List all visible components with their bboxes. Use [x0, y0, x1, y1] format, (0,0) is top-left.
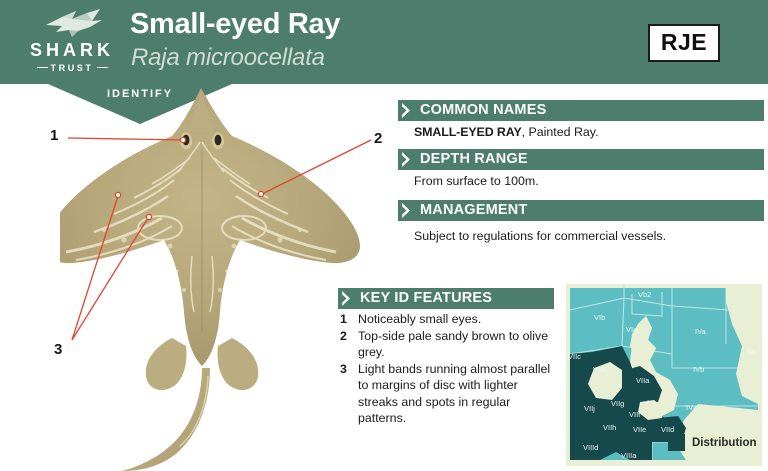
map-legend-swatch	[668, 434, 685, 451]
callout-number-1: 1	[50, 127, 58, 144]
key-id-item-number: 1	[340, 311, 347, 328]
scientific-name: Raja microocellata	[131, 44, 325, 72]
section-body-management: Subject to regulations for commercial ve…	[414, 228, 764, 244]
svg-text:VIIf: VIIf	[629, 410, 641, 419]
section-body-common-names: SMALL-EYED RAY, Painted Ray.	[414, 124, 764, 140]
ray-eye-left	[180, 133, 192, 150]
svg-text:VIb: VIb	[594, 313, 605, 322]
logo-wordmark: SHARK	[24, 40, 120, 61]
svg-text:VIa: VIa	[626, 325, 638, 334]
section-heading-depth-range: DEPTH RANGE	[398, 149, 764, 170]
ray-drawing	[60, 80, 380, 471]
common-name-primary: SMALL-EYED RAY	[414, 125, 522, 139]
logo-subwordmark: TRUST	[24, 63, 120, 73]
key-id-item-number: 2	[340, 328, 347, 345]
key-id-item-text: Light bands running almost parallel to m…	[358, 362, 550, 426]
ray-pelvic-right	[218, 338, 259, 390]
key-id-item-number: 3	[340, 361, 347, 378]
key-id-features-list: 1 Noticeably small eyes. 2 Top-side pale…	[338, 311, 556, 427]
shark-trust-logo: SHARK TRUST	[24, 6, 120, 78]
ray-pelvic-left	[146, 338, 187, 390]
svg-text:VIIh: VIIh	[603, 423, 616, 432]
callout-number-3: 3	[54, 341, 62, 358]
callout-number-2: 2	[374, 130, 382, 147]
svg-text:VIId: VIId	[661, 425, 674, 434]
map-legend-label: Distribution	[692, 437, 757, 449]
svg-text:IVc: IVc	[686, 403, 697, 412]
svg-text:VIIa: VIIa	[636, 376, 650, 385]
svg-text:IIa: IIa	[747, 347, 756, 356]
svg-text:VIIj: VIIj	[584, 404, 595, 413]
svg-text:Vb2: Vb2	[638, 290, 651, 299]
svg-text:IVa: IVa	[695, 327, 707, 336]
page-title: Small-eyed Ray	[130, 8, 340, 41]
section-body-depth-range: From surface to 100m.	[414, 173, 764, 189]
svg-text:VIIIa: VIIIa	[621, 451, 637, 460]
ray-eye-right	[212, 133, 224, 150]
species-id-card: SHARK TRUST IDENTIFY Small-eyed Ray Raja…	[0, 0, 768, 471]
key-id-item: 1 Noticeably small eyes.	[338, 311, 556, 328]
svg-text:VIIb: VIIb	[593, 365, 606, 374]
section-heading-management: MANAGEMENT	[398, 200, 764, 221]
key-id-item: 2 Top-side pale sandy brown to olive gre…	[338, 328, 556, 361]
svg-text:VIIe: VIIe	[633, 425, 646, 434]
svg-text:VIIId: VIIId	[583, 443, 598, 452]
shark-icon	[42, 8, 104, 38]
svg-text:IVb: IVb	[693, 365, 704, 374]
key-id-item-text: Top-side pale sandy brown to olive grey.	[358, 329, 548, 360]
ray-illustration	[60, 80, 380, 471]
common-name-secondary: , Painted Ray.	[522, 125, 599, 139]
species-code-badge: RJE	[648, 24, 720, 62]
section-heading-common-names: COMMON NAMES	[398, 100, 764, 121]
svg-text:VIIg: VIIg	[611, 399, 624, 408]
logo-subwordmark-text: TRUST	[51, 63, 94, 73]
section-heading-key-id-features: KEY ID FEATURES	[338, 288, 554, 309]
svg-text:VIIc: VIIc	[568, 352, 581, 361]
key-id-item: 3 Light bands running almost parallel to…	[338, 361, 556, 427]
key-id-item-text: Noticeably small eyes.	[358, 312, 481, 326]
